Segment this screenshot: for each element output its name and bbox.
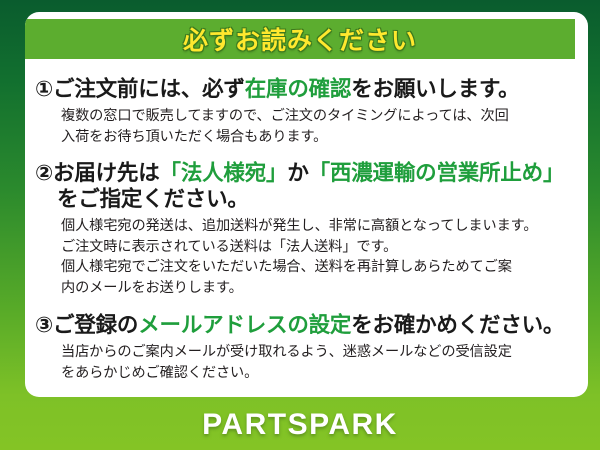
notice-item-1-body: 複数の窓口で販売してますので、ご注文のタイミングによっては、次回 入荷をお待ち頂… (35, 106, 580, 147)
item-2-heading-line-2: をご指定ください。 (35, 186, 580, 212)
item-2-number: ② (35, 161, 53, 185)
page-title: 必ずお読みください (183, 21, 417, 57)
item-3-heading-post: をお確かめください。 (351, 313, 564, 337)
item-2-heading-pre: お届け先は (53, 161, 160, 185)
footer-brand-bar: PARTSPARK (0, 400, 600, 450)
notice-item-2-body: 個人様宅宛の発送は、追加送料が発生し、非常に高額となってしまいます。 ご注文時に… (35, 216, 580, 298)
notice-card: 必ずお読みください ①ご注文前には、必ず在庫の確認をお願いします。 複数の窓口で… (25, 12, 588, 397)
item-3-heading-highlight: メールアドレスの設定 (138, 313, 351, 337)
item-1-heading-pre: ご注文前には、必ず (53, 77, 245, 101)
notice-item-2: ②お届け先は「法人様宛」か「西濃運輸の営業所止め」 をご指定ください。 個人様宅… (35, 160, 580, 298)
item-1-body-line-1: 複数の窓口で販売してますので、ご注文のタイミングによっては、次回 (61, 106, 580, 126)
brand-logo-text: PARTSPARK (202, 408, 398, 442)
item-3-heading-pre: ご登録の (53, 313, 138, 337)
title-banner: 必ずお読みください (25, 19, 575, 59)
item-2-body-line-3: 個人様宅宛でご注文をいただいた場合、送料を再計算しあらためてご案 (61, 257, 580, 277)
item-2-heading-highlight-2: 「西濃運輸の営業所止め」 (309, 161, 565, 185)
item-2-heading-highlight: 「法人様宛」 (160, 161, 288, 185)
notice-item-3-heading: ③ご登録のメールアドレスの設定をお確かめください。 (35, 312, 580, 338)
item-1-number: ① (35, 77, 53, 101)
item-2-body-line-4: 内のメールをお送りします。 (61, 278, 580, 298)
item-3-body-line-1: 当店からのご案内メールが受け取れるよう、迷惑メールなどの受信設定 (61, 342, 580, 362)
item-3-number: ③ (35, 313, 53, 337)
item-1-body-line-2: 入荷をお待ち頂いただく場合もあります。 (61, 127, 580, 147)
notice-poster: 必ずお読みください ①ご注文前には、必ず在庫の確認をお願いします。 複数の窓口で… (0, 0, 600, 450)
item-2-body-line-1: 個人様宅宛の発送は、追加送料が発生し、非常に高額となってしまいます。 (61, 216, 580, 236)
notice-item-1-heading: ①ご注文前には、必ず在庫の確認をお願いします。 (35, 76, 580, 102)
item-3-body-line-2: をあらかじめご確認ください。 (61, 363, 580, 383)
item-2-heading-mid: か (287, 161, 308, 185)
notice-item-3-body: 当店からのご案内メールが受け取れるよう、迷惑メールなどの受信設定 をあらかじめご… (35, 342, 580, 383)
notice-item-1: ①ご注文前には、必ず在庫の確認をお願いします。 複数の窓口で販売してますので、ご… (35, 76, 580, 147)
item-1-heading-highlight: 在庫の確認 (245, 77, 352, 101)
notice-item-3: ③ご登録のメールアドレスの設定をお確かめください。 当店からのご案内メールが受け… (35, 312, 580, 383)
item-1-heading-post: をお願いします。 (351, 77, 519, 101)
notice-item-2-heading: ②お届け先は「法人様宛」か「西濃運輸の営業所止め」 をご指定ください。 (35, 160, 580, 212)
item-2-body-line-2: ご注文時に表示されている送料は「法人送料」です。 (61, 237, 580, 257)
